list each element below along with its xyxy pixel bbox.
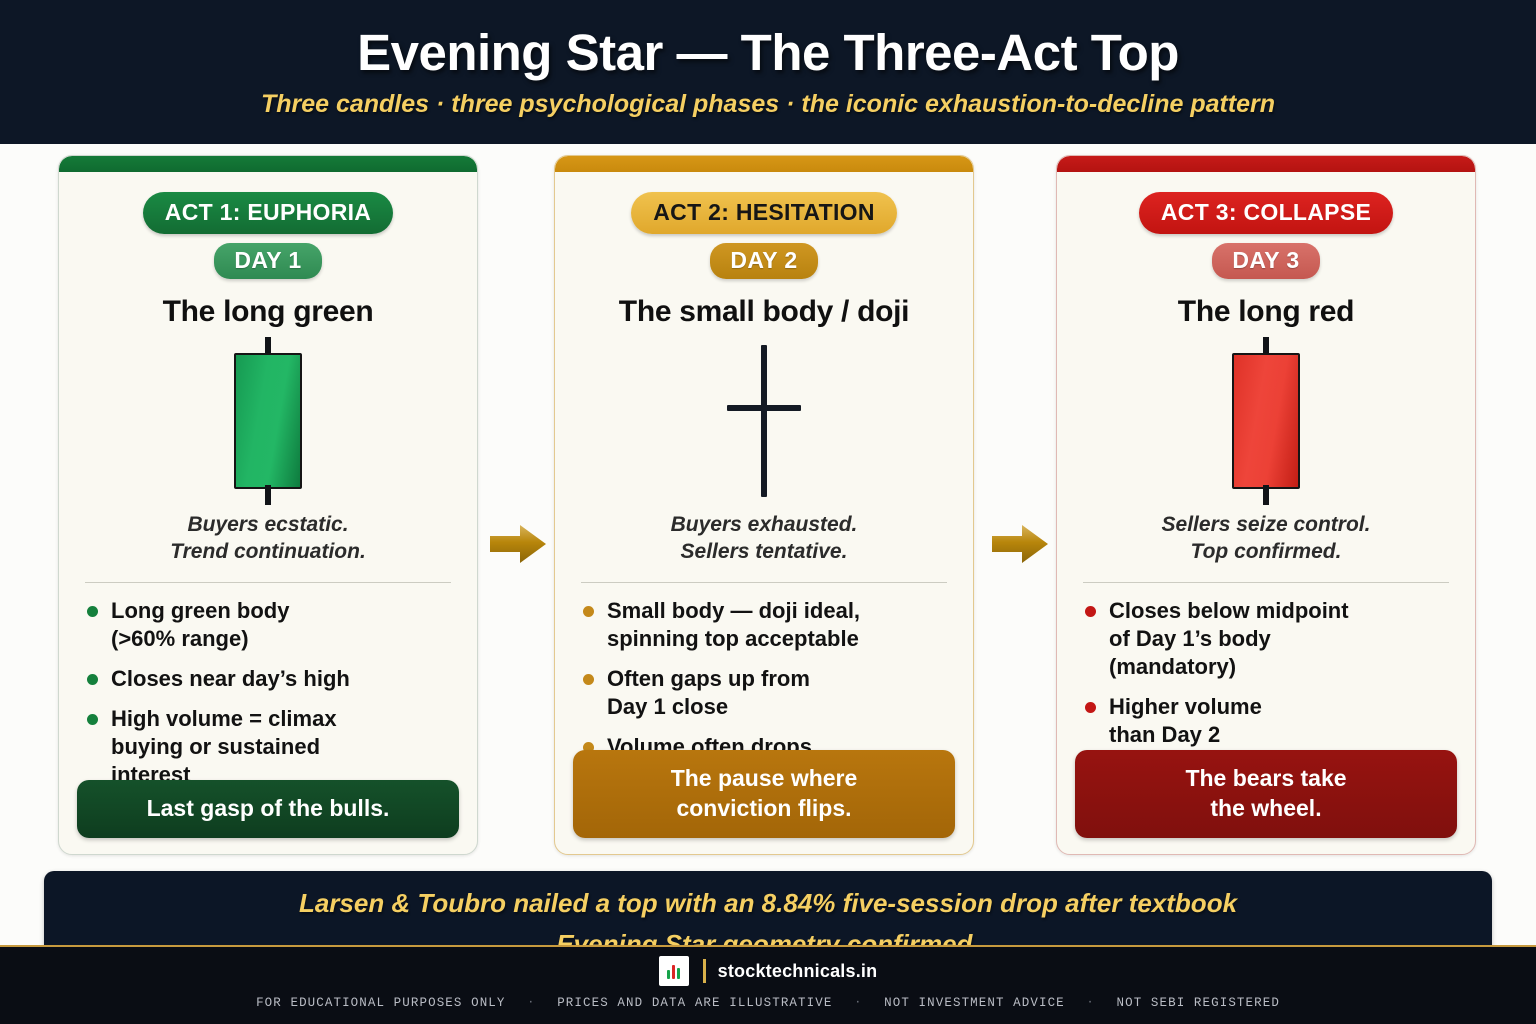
- card-divider: [581, 582, 947, 583]
- brand-name: stocktechnicals.in: [718, 961, 878, 982]
- card-divider: [85, 582, 451, 583]
- candle-illustration-2: [555, 337, 973, 505]
- card-title-2: The small body / doji: [555, 295, 973, 329]
- act-badge-2: ACT 2: HESITATION: [631, 192, 896, 234]
- logo-bar-green: [677, 968, 680, 979]
- candle-illustration-3: [1057, 337, 1475, 505]
- bullet-dot-icon: [1085, 702, 1096, 713]
- arrow-right-icon-1: [490, 523, 546, 565]
- disclaimer-item: PRICES AND DATA ARE ILLUSTRATIVE: [557, 996, 832, 1010]
- bullet-dot-icon: [583, 674, 594, 685]
- disclaimer-item: NOT SEBI REGISTERED: [1117, 996, 1280, 1010]
- lower-wick: [265, 485, 271, 505]
- doji-vertical-wick: [761, 345, 767, 497]
- bullet-dot-icon: [87, 714, 98, 725]
- card-summary-banner-3: The bears take the wheel.: [1075, 750, 1457, 838]
- list-item-text: Often gaps up from Day 1 close: [607, 665, 810, 721]
- list-item: Higher volume than Day 2: [1083, 693, 1451, 749]
- psychology-note-2: Buyers exhausted. Sellers tentative.: [555, 511, 973, 566]
- disclaimer-separator: ·: [854, 997, 862, 1009]
- day-badge-3: DAY 3: [1212, 243, 1319, 279]
- card-divider: [1083, 582, 1449, 583]
- disclaimer-row: FOR EDUCATIONAL PURPOSES ONLY · PRICES A…: [256, 996, 1280, 1010]
- psychology-note-3: Sellers seize control. Top confirmed.: [1057, 511, 1475, 566]
- bullet-dot-icon: [583, 606, 594, 617]
- list-item: High volume = climax buying or sustained…: [85, 705, 453, 789]
- candle-body-red: [1232, 353, 1300, 489]
- bullet-dot-icon: [87, 674, 98, 685]
- long-green-candle: [228, 337, 308, 505]
- list-item-text: Long green body (>60% range): [111, 597, 289, 653]
- day-badge-1: DAY 1: [214, 243, 321, 279]
- candlestick-logo-icon: [659, 956, 689, 986]
- bullet-dot-icon: [1085, 606, 1096, 617]
- card-title-3: The long red: [1057, 295, 1475, 329]
- card-summary-banner-2: The pause where conviction flips.: [573, 750, 955, 838]
- list-item-text: High volume = climax buying or sustained…: [111, 705, 337, 789]
- act-card-1[interactable]: ACT 1: EUPHORIA DAY 1 The long green Buy…: [58, 155, 478, 855]
- card-accent-bar: [59, 156, 477, 172]
- acts-container: ACT 1: EUPHORIA DAY 1 The long green Buy…: [0, 155, 1536, 861]
- long-red-candle: [1226, 337, 1306, 505]
- brand-divider: [703, 959, 706, 983]
- list-item: Closes below midpoint of Day 1’s body (m…: [1083, 597, 1451, 681]
- act-badge-1: ACT 1: EUPHORIA: [143, 192, 393, 234]
- logo-bar-red: [672, 965, 675, 979]
- psychology-note-1: Buyers ecstatic. Trend continuation.: [59, 511, 477, 566]
- page-header: Evening Star — The Three-Act Top Three c…: [0, 0, 1536, 144]
- doji-horizontal-body: [727, 405, 801, 411]
- bullet-dot-icon: [87, 606, 98, 617]
- list-item: Long green body (>60% range): [85, 597, 453, 653]
- brand-row: stocktechnicals.in: [659, 956, 878, 986]
- list-item-text: Small body — doji ideal, spinning top ac…: [607, 597, 860, 653]
- candle-illustration-1: [59, 337, 477, 505]
- criteria-list-1: Long green body (>60% range) Closes near…: [85, 597, 453, 790]
- act-card-3[interactable]: ACT 3: COLLAPSE DAY 3 The long red Selle…: [1056, 155, 1476, 855]
- list-item: Small body — doji ideal, spinning top ac…: [581, 597, 949, 653]
- list-item: Often gaps up from Day 1 close: [581, 665, 949, 721]
- card-accent-bar: [1057, 156, 1475, 172]
- card-summary-banner-1: Last gasp of the bulls.: [77, 780, 459, 838]
- act-card-2[interactable]: ACT 2: HESITATION DAY 2 The small body /…: [554, 155, 974, 855]
- disclaimer-separator: ·: [528, 997, 536, 1009]
- list-item-text: Closes near day’s high: [111, 665, 350, 693]
- list-item: Closes near day’s high: [85, 665, 453, 693]
- disclaimer-item: NOT INVESTMENT ADVICE: [884, 996, 1065, 1010]
- card-title-1: The long green: [59, 295, 477, 329]
- disclaimer-item: FOR EDUCATIONAL PURPOSES ONLY: [256, 996, 505, 1010]
- logo-bar-green: [667, 970, 670, 979]
- disclaimer-separator: ·: [1087, 997, 1095, 1009]
- card-accent-bar: [555, 156, 973, 172]
- page-subtitle: Three candles · three psychological phas…: [261, 90, 1275, 119]
- act-badge-3: ACT 3: COLLAPSE: [1139, 192, 1393, 234]
- list-item-text: Closes below midpoint of Day 1’s body (m…: [1109, 597, 1349, 681]
- doji-cross-candle: [719, 345, 809, 497]
- arrow-right-icon-2: [992, 523, 1048, 565]
- list-item-text: Higher volume than Day 2: [1109, 693, 1262, 749]
- candle-body-green: [234, 353, 302, 489]
- day-badge-2: DAY 2: [710, 243, 817, 279]
- site-footer: stocktechnicals.in FOR EDUCATIONAL PURPO…: [0, 945, 1536, 1024]
- page-title: Evening Star — The Three-Act Top: [357, 25, 1179, 80]
- lower-wick: [1263, 485, 1269, 505]
